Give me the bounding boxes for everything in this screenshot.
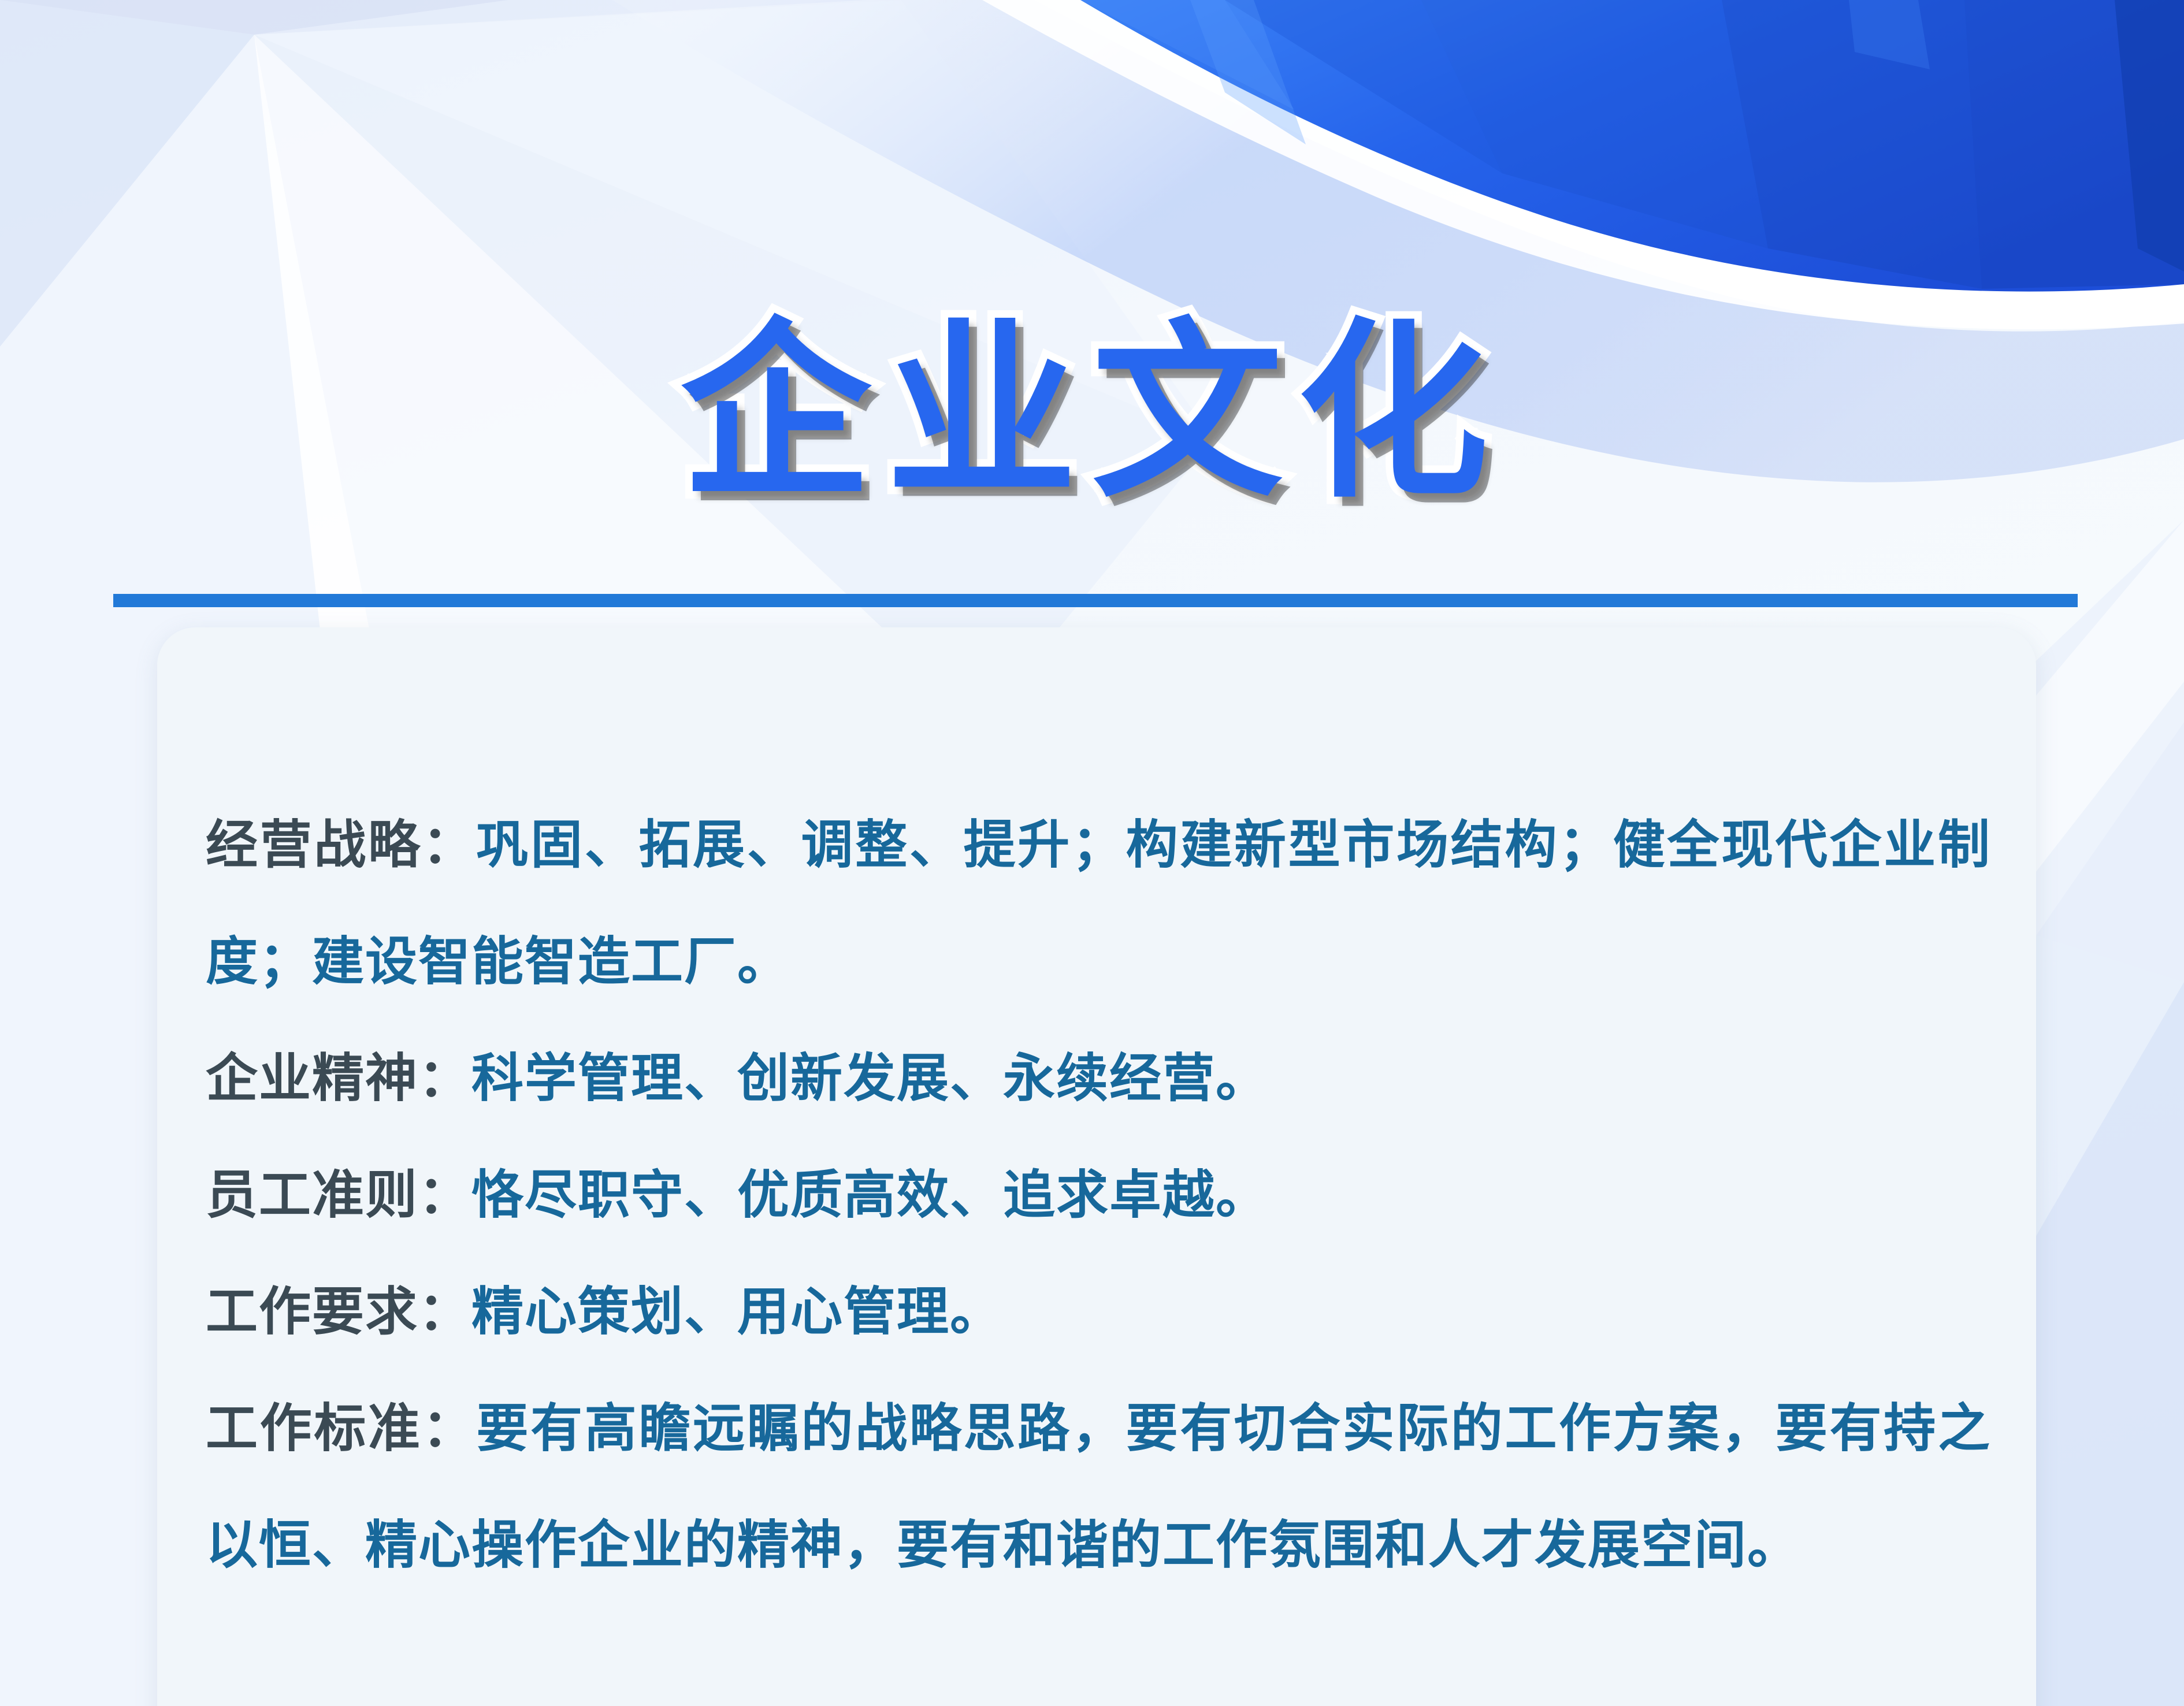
culture-statement-item: 工作要求：精心策划、用心管理。 bbox=[206, 1254, 1991, 1370]
culture-statement-item: 员工准则：恪尽职守、优质高效、追求卓越。 bbox=[206, 1137, 1991, 1254]
culture-statement-item: 企业精神：科学管理、创新发展、永续经营。 bbox=[206, 1020, 1991, 1137]
title-divider bbox=[113, 594, 2078, 607]
culture-statement-text: 精心策划、用心管理。 bbox=[471, 1281, 1003, 1342]
culture-statement-label: 员工准则： bbox=[206, 1165, 471, 1225]
content-card: 经营战略：巩固、拓展、调整、提升；构建新型市场结构；健全现代企业制度；建设智能智… bbox=[157, 627, 2036, 1706]
culture-statement-label: 工作要求： bbox=[206, 1281, 471, 1342]
culture-statement-list: 经营战略：巩固、拓展、调整、提升；构建新型市场结构；健全现代企业制度；建设智能智… bbox=[206, 787, 1991, 1604]
culture-statement-text: 科学管理、创新发展、永续经营。 bbox=[471, 1048, 1269, 1109]
culture-statement-item: 工作标准：要有高瞻远瞩的战略思路，要有切合实际的工作方案，要有持之以恒、精心操作… bbox=[206, 1370, 1991, 1604]
culture-statement-label: 经营战略： bbox=[206, 815, 476, 875]
poster-root: 企业文化 经营战略：巩固、拓展、调整、提升；构建新型市场结构；健全现代企业制度；… bbox=[0, 0, 2184, 1706]
culture-statement-label: 企业精神： bbox=[206, 1048, 471, 1109]
culture-statement-text: 恪尽职守、优质高效、追求卓越。 bbox=[471, 1165, 1269, 1225]
culture-statement-label: 工作标准： bbox=[206, 1398, 476, 1459]
culture-statement-item: 经营战略：巩固、拓展、调整、提升；构建新型市场结构；健全现代企业制度；建设智能智… bbox=[206, 787, 1991, 1020]
